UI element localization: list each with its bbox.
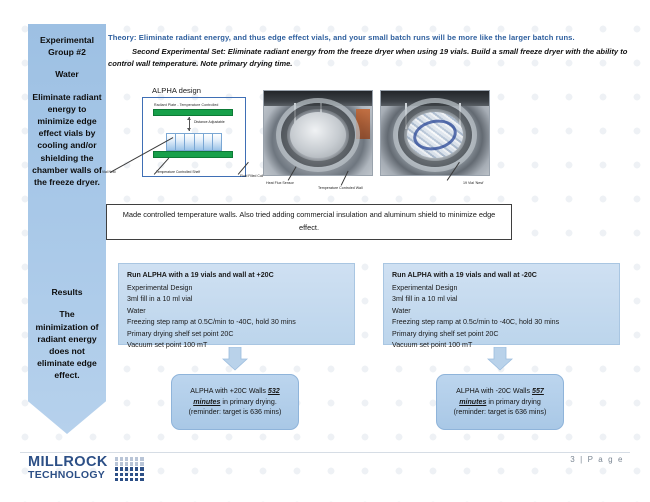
slide-page: Experimental Group #2 Water Eliminate ra… (0, 0, 650, 502)
logo-line-2: TECHNOLOGY (28, 470, 108, 481)
arrow-down-icon-right (487, 347, 513, 371)
result-box-plus20c: ALPHA with +20C Walls 532 minutes in pri… (171, 374, 299, 430)
result-pre-minus20c: ALPHA with -20C Walls (456, 387, 530, 395)
alpha-design-diagram: ALPHA design Radiant Plate - Temperature… (124, 86, 258, 190)
experiment-line: Freezing step ramp at 0.5c/min to -40C, … (392, 317, 611, 329)
heat-flux-sensor-photo (263, 90, 373, 176)
banner-subject: Water (32, 68, 102, 80)
experiment-line: Experimental Design (127, 283, 346, 295)
experiment-line: Primary drying shelf set point 20C (127, 329, 346, 341)
alpha-design-title: ALPHA design (152, 86, 201, 95)
page-number: 3 | P a g e (570, 455, 624, 464)
theory-statement: Theory: Eliminate radiant energy, and th… (108, 33, 642, 42)
coil-label: Fluid Filled Coil (240, 174, 263, 178)
experiment-box-plus20c: Run ALPHA with a 19 vials and wall at +2… (118, 263, 355, 345)
second-experimental-set-inner: Second Experimental Set: Eliminate radia… (108, 47, 627, 68)
result-pre-plus20c: ALPHA with +20C Walls (190, 387, 266, 395)
experimental-group-banner: Experimental Group #2 Water Eliminate ra… (28, 24, 106, 434)
shelf-label: Temperature Controlled Shelf (156, 170, 200, 174)
arrow-down-icon-left (222, 347, 248, 371)
experiment-line: Water (392, 306, 611, 318)
heat-flux-sensor-label: Heat Flux Sensor (266, 181, 294, 185)
controlled-walls-note: Made controlled temperature walls. Also … (106, 204, 512, 240)
logo-line-1: MILLROCK (28, 455, 108, 470)
distance-adjustable-label: Distance Adjustable (194, 120, 225, 124)
banner-results-text: The minimization of radiant energy does … (32, 308, 102, 381)
temperature-controlled-shelf-shape (153, 151, 233, 158)
experiment-line: 3ml fill in a 10 ml vial (127, 294, 346, 306)
experiment-line: 3ml fill in a 10 ml vial (392, 294, 611, 306)
experiment-line: Experimental Design (392, 283, 611, 295)
experiment-header-plus20c: Run ALPHA with a 19 vials and wall at +2… (127, 270, 346, 282)
experiment-line: Freezing step ramp at 0.5C/min to -40C, … (127, 317, 346, 329)
19-vial-nest-photo (380, 90, 490, 176)
experiment-box-minus20c: Run ALPHA with a 19 vials and wall at -2… (383, 263, 620, 345)
distance-arrow-down-icon (187, 128, 191, 131)
second-experimental-set-text: Second Experimental Set: Eliminate radia… (108, 46, 642, 70)
banner-results-heading: Results (32, 286, 102, 298)
radiant-plate-shape (153, 109, 233, 116)
result-box-minus20c: ALPHA with -20C Walls 557 minutes in pri… (436, 374, 564, 430)
temperature-controlled-wall-label: Temperature Controled Wall (318, 186, 363, 190)
theory-block: Theory: Eliminate radiant energy, and th… (108, 33, 642, 70)
experiment-header-minus20c: Run ALPHA with a 19 vials and wall at -2… (392, 270, 611, 282)
millrock-technology-logo: MILLROCK TECHNOLOGY (28, 455, 144, 481)
19-vial-nest-label: 19 Vial 'Nest' (463, 181, 484, 185)
banner-objective: Eliminate radiant energy to minimize edg… (32, 91, 102, 189)
banner-title: Experimental Group #2 (32, 34, 102, 58)
vial-array (166, 133, 222, 151)
experiment-line: Primary drying shelf set point 20C (392, 329, 611, 341)
experiment-line: Water (127, 306, 346, 318)
footer-divider (20, 452, 630, 453)
radiant-plate-label: Radiant Plate - Temperature Controlled (154, 103, 218, 107)
logo-dot-grid-icon (115, 457, 144, 481)
distance-arrow-up-icon (187, 117, 191, 120)
